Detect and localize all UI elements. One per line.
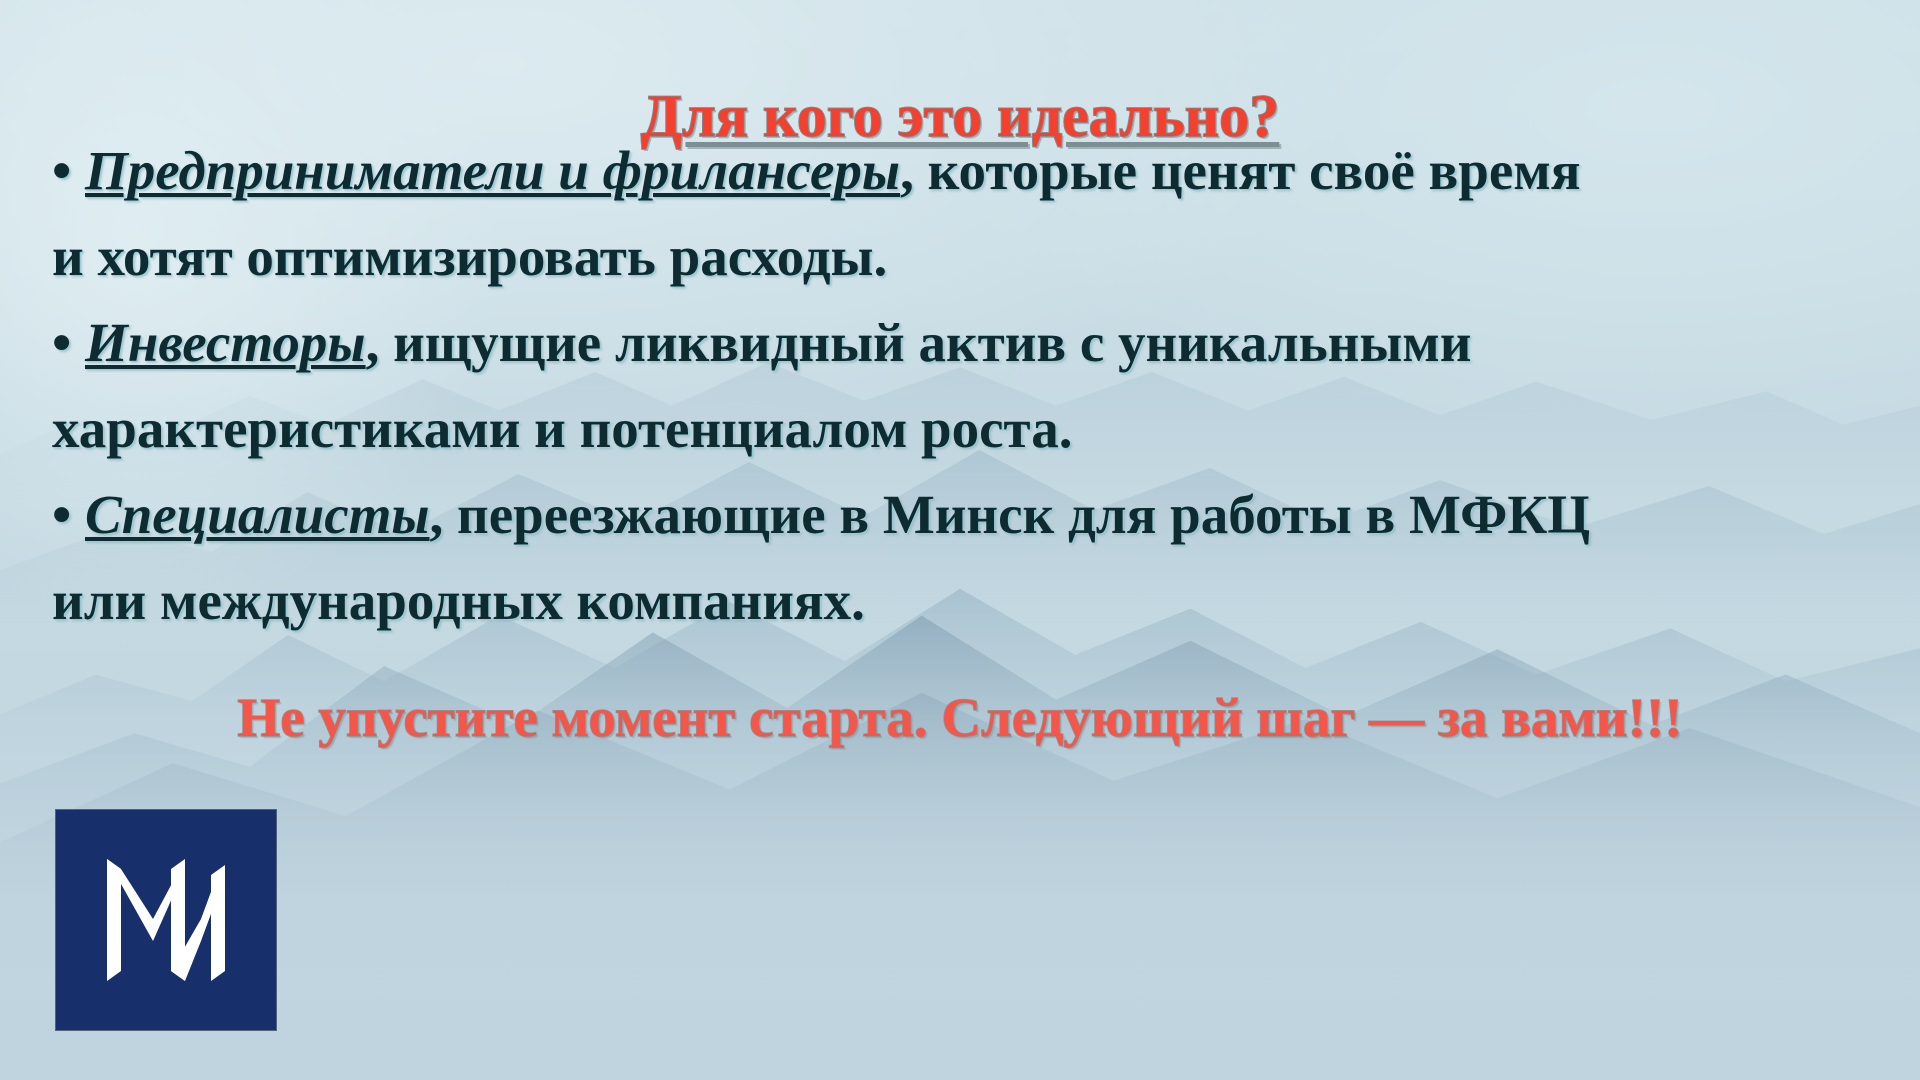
bullet-text: или международных компаниях.: [52, 570, 865, 631]
call-to-action-text: Не упустите момент старта. Следующий шаг…: [0, 690, 1920, 745]
mw-logo: [56, 810, 276, 1030]
list-item: • Специалисты, переезжающие в Минск для …: [52, 472, 1882, 558]
bullet-text: , переезжающие в Минск для работы в МФКЦ: [430, 484, 1590, 545]
bullet-text: , которые ценят своё время: [900, 140, 1580, 201]
slide-root: Для кого это идеально? • Предприниматели…: [0, 0, 1920, 1080]
list-item: и хотят оптимизировать расходы.: [52, 214, 1882, 300]
bullet-emphasis: Инвесторы: [85, 312, 366, 373]
bullet-text: , ищущие ликвидный актив с уникальными: [366, 312, 1472, 373]
bullet-marker: •: [52, 140, 85, 201]
bullet-marker: •: [52, 312, 85, 373]
bullet-text: и хотят оптимизировать расходы.: [52, 226, 887, 287]
bullet-text: характеристиками и потенциалом роста.: [52, 398, 1072, 459]
list-item: • Предприниматели и фрилансеры, которые …: [52, 128, 1882, 214]
bullet-list: • Предприниматели и фрилансеры, которые …: [52, 128, 1882, 644]
list-item: характеристиками и потенциалом роста.: [52, 386, 1882, 472]
content-layer: Для кого это идеально? • Предприниматели…: [0, 0, 1920, 1080]
bullet-emphasis: Специалисты: [85, 484, 430, 545]
bullet-emphasis: Предприниматели и фрилансеры: [85, 140, 900, 201]
mw-monogram-icon: [91, 845, 241, 995]
bullet-marker: •: [52, 484, 85, 545]
list-item: • Инвесторы, ищущие ликвидный актив с ун…: [52, 300, 1882, 386]
list-item: или международных компаниях.: [52, 558, 1882, 644]
